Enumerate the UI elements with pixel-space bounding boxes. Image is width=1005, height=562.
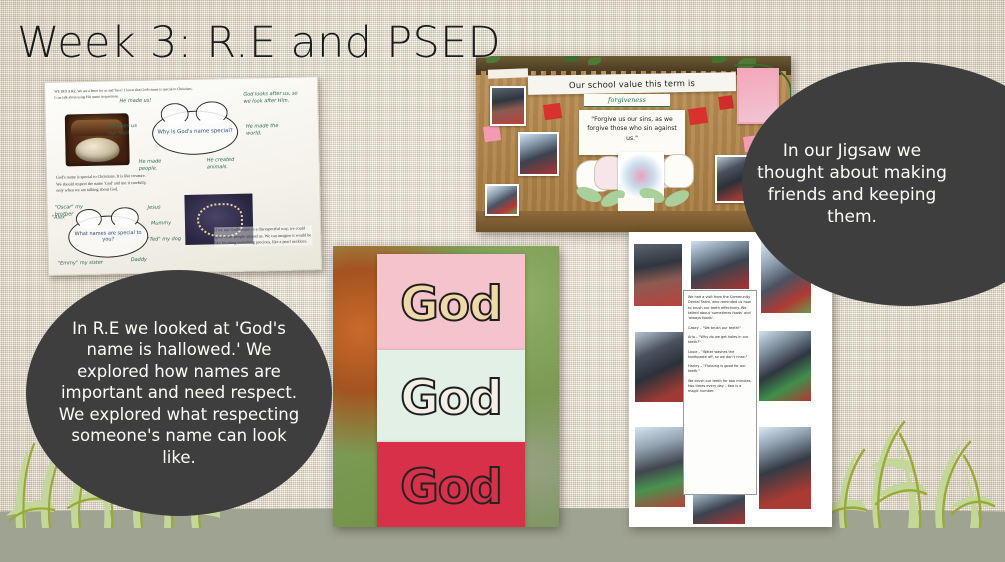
callout-right-text: In our Jigsaw we thought about making fr… <box>749 140 955 228</box>
collage-photo <box>759 331 811 401</box>
god-sheet-pink: God <box>377 254 525 350</box>
worksheet-note-5: God looks after us, so we look after Him… <box>243 90 305 105</box>
red-heart-shape <box>688 107 708 125</box>
red-heart-shape <box>543 103 562 120</box>
worksheet-paragraph: God's name is special to Christians. It … <box>56 173 148 194</box>
board-banner-value: forgiveness <box>584 94 670 107</box>
slide-canvas: WE DID A RE. We are a letter for us and … <box>0 0 1005 562</box>
worksheet-note-6: He made the world. <box>246 123 294 138</box>
god-sheet-red: God <box>377 442 525 527</box>
god-word-text: God <box>400 281 502 328</box>
page-title: Week 3: R.E and PSED <box>17 18 501 68</box>
board-banner: Our school value this term is <box>528 72 736 95</box>
dental-paragraph: We brush our teeth for two minutes, two … <box>688 379 752 395</box>
treasure-chest-image <box>65 113 130 166</box>
god-sheet-mint: God <box>377 350 525 442</box>
pink-heart-shape <box>483 125 501 142</box>
god-word-text: God <box>400 375 502 422</box>
worksheet-note-4: He created animals. <box>207 157 247 171</box>
dental-paragraph: Louie – "Water washes the toothpaste off… <box>688 350 752 361</box>
worksheet-note-3: He made people. <box>139 158 179 172</box>
board-quote-card: "Forgive us our sins, as we forgive thos… <box>579 110 685 155</box>
re-worksheet-photo: WE DID A RE. We are a letter for us and … <box>44 76 322 276</box>
dental-paragraph: Harley – "Flossing is good for our teeth… <box>688 364 752 375</box>
worksheet-note-2: He gives us our food <box>108 123 144 137</box>
worksheet-name-2: Mummy <box>151 220 181 227</box>
handprint-cutout <box>662 154 694 188</box>
worksheet-name-6: "Alex" <box>52 214 74 221</box>
worksheet-paragraph-2: If we use God's name in a disrespectful … <box>214 225 312 247</box>
worksheet-name-7: "Emmy" my sister <box>58 260 106 268</box>
collage-photo <box>635 427 685 507</box>
mindmap-cloud-main: Why is God's name special? <box>152 110 239 156</box>
dental-visit-text-panel: We had a visit from the Community Dental… <box>683 290 757 495</box>
collage-photo <box>691 241 749 289</box>
worksheet-note-1: He made us! <box>119 98 155 106</box>
worksheet-name-1: Jesus <box>148 204 174 211</box>
collage-photo <box>759 427 811 509</box>
mindmap-cloud-second: What names are special to you? <box>68 215 149 259</box>
callout-left-text: In R.E we looked at 'God's name is hallo… <box>53 318 305 468</box>
board-photo <box>518 132 559 176</box>
board-photo <box>490 86 526 126</box>
board-caption-card <box>618 198 654 211</box>
board-bottom-shelf <box>476 211 791 232</box>
collage-photo <box>635 332 683 402</box>
board-small-label <box>488 68 528 78</box>
worksheet-name-3: "Ted" my dog <box>147 236 189 244</box>
god-artwork-photo: God God God <box>333 246 559 527</box>
dental-paragraph: Casey – "We brush our teeth!" <box>688 326 752 331</box>
board-photo <box>485 184 519 216</box>
worksheet-name-4: Daddy <box>131 257 157 264</box>
dental-paragraph: We had a visit from the Community Dental… <box>688 295 752 322</box>
callout-oval-left: In R.E we looked at 'God's name is hallo… <box>26 270 332 516</box>
god-word-text: God <box>400 464 502 511</box>
dental-paragraph: Arlo – "Why do we get holes in our teeth… <box>688 335 752 346</box>
grass-decoration-right <box>804 408 1005 528</box>
collage-photo <box>634 244 682 306</box>
red-heart-shape <box>718 95 734 110</box>
